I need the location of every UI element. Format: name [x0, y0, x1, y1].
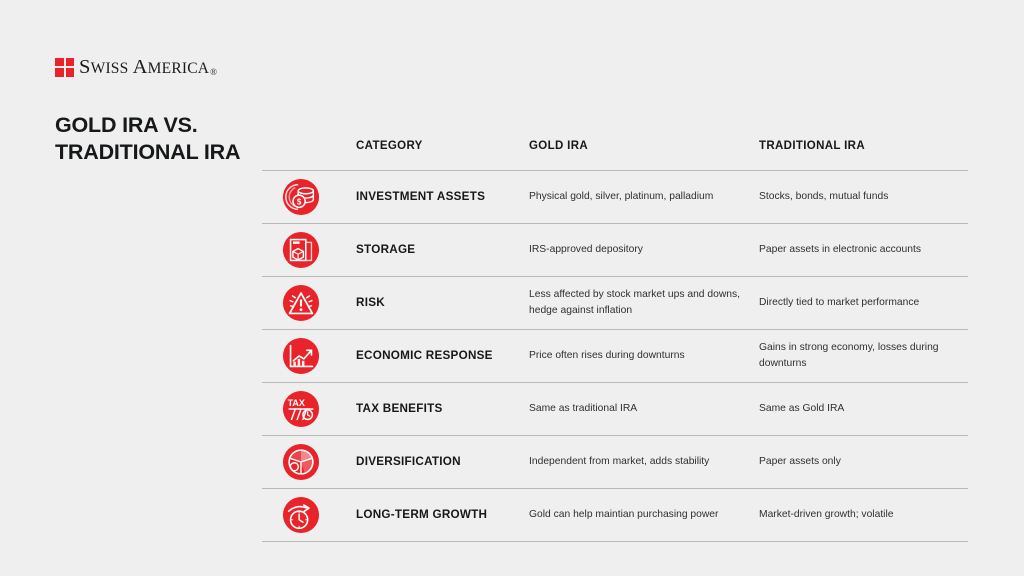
table-header-row: CATEGORY GOLD IRA TRADITIONAL IRA [262, 140, 968, 170]
row-category-label: LONG-TERM GROWTH [356, 508, 529, 522]
row-gold-ira-value: IRS-approved depository [529, 242, 759, 258]
red-squares-grid-logo-icon [55, 58, 74, 77]
row-category-label: TAX BENEFITS [356, 402, 529, 416]
row-category-label: INVESTMENT ASSETS [356, 190, 529, 204]
chart-trend-arrow-icon [282, 337, 320, 375]
row-traditional-ira-value: Market-driven growth; volatile [759, 507, 968, 523]
coins-stack-dollar-icon: $ [282, 178, 320, 216]
row-icon-cell: $ [262, 178, 356, 216]
clock-growth-arrow-icon [282, 496, 320, 534]
row-traditional-ira-value: Paper assets only [759, 454, 968, 470]
vault-storage-box-icon [282, 231, 320, 269]
svg-text:$: $ [297, 198, 302, 207]
table-row: RISK Less affected by stock market ups a… [262, 277, 968, 329]
row-icon-cell [262, 284, 356, 322]
row-gold-ira-value: Physical gold, silver, platinum, palladi… [529, 189, 759, 205]
page-title: Gold IRA vs. Traditional IRA [55, 112, 270, 166]
row-category-label: STORAGE [356, 243, 529, 257]
header-cell-category: CATEGORY [356, 140, 529, 152]
table-row: DIVERSIFICATION Independent from market,… [262, 436, 968, 488]
comparison-table: CATEGORY GOLD IRA TRADITIONAL IRA $ INVE… [262, 140, 968, 542]
row-icon-cell [262, 337, 356, 375]
row-traditional-ira-value: Stocks, bonds, mutual funds [759, 189, 968, 205]
brand-logo: SWISS AMERICA ® [55, 57, 217, 78]
row-icon-cell [262, 443, 356, 481]
row-category-label: ECONOMIC RESPONSE [356, 349, 529, 363]
row-icon-cell [262, 231, 356, 269]
warning-triangle-alert-icon [282, 284, 320, 322]
row-icon-cell [262, 496, 356, 534]
row-traditional-ira-value: Gains in strong economy, losses during d… [759, 340, 968, 372]
svg-text:TAX: TAX [288, 398, 305, 408]
header-cell-gold-ira: GOLD IRA [529, 140, 759, 152]
row-category-label: RISK [356, 296, 529, 310]
row-gold-ira-value: Same as traditional IRA [529, 401, 759, 417]
table-divider [262, 541, 968, 542]
table-row: TAX TAX BENEFITS Same as traditional IRA… [262, 383, 968, 435]
table-row: $ INVESTMENT ASSETS Physical gold, silve… [262, 171, 968, 223]
brand-name: SWISS AMERICA [79, 57, 209, 78]
table-row: STORAGE IRS-approved depository Paper as… [262, 224, 968, 276]
row-category-label: DIVERSIFICATION [356, 455, 529, 469]
header-cell-traditional-ira: TRADITIONAL IRA [759, 140, 968, 152]
row-traditional-ira-value: Directly tied to market performance [759, 295, 968, 311]
row-gold-ira-value: Price often rises during downturns [529, 348, 759, 364]
table-row: LONG-TERM GROWTH Gold can help maintian … [262, 489, 968, 541]
row-gold-ira-value: Less affected by stock market ups and do… [529, 287, 759, 319]
pie-chart-segments-icon [282, 443, 320, 481]
row-traditional-ira-value: Same as Gold IRA [759, 401, 968, 417]
row-icon-cell: TAX [262, 390, 356, 428]
tax-document-icon: TAX [282, 390, 320, 428]
row-gold-ira-value: Gold can help maintian purchasing power [529, 507, 759, 523]
registered-trademark-icon: ® [210, 67, 217, 78]
row-traditional-ira-value: Paper assets in electronic accounts [759, 242, 968, 258]
table-row: ECONOMIC RESPONSE Price often rises duri… [262, 330, 968, 382]
row-gold-ira-value: Independent from market, adds stability [529, 454, 759, 470]
